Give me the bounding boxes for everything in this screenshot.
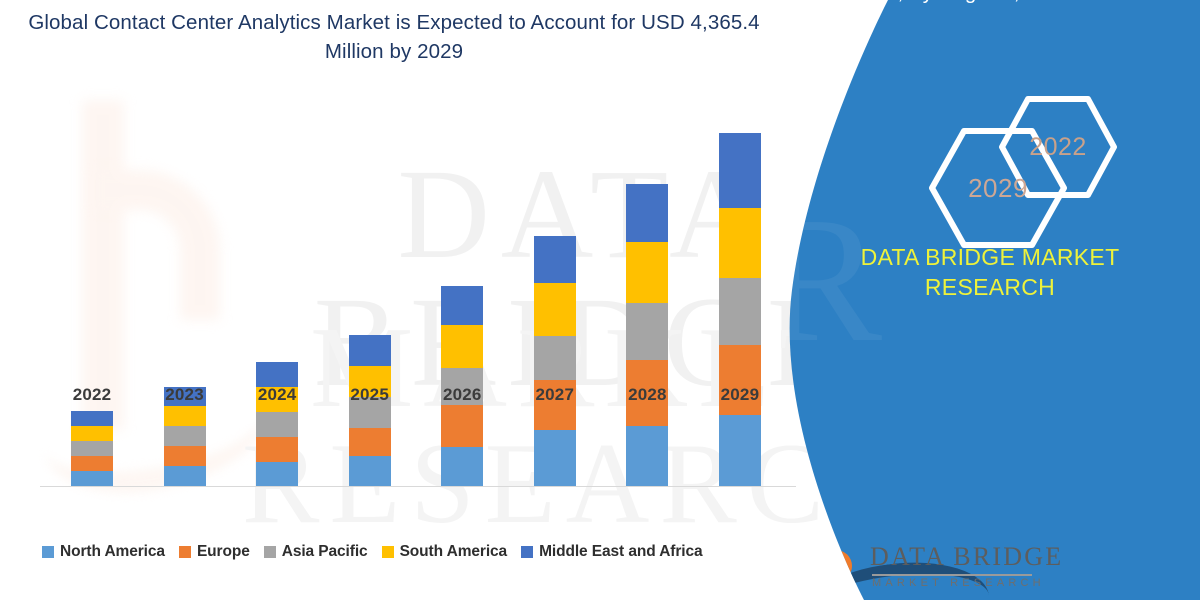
brand-name: DATA BRIDGE MARKET RESEARCH	[780, 243, 1200, 303]
bar-column	[601, 110, 693, 486]
bar-segment	[441, 286, 483, 325]
hexagon-2022-label: 2022	[1029, 133, 1087, 162]
bar-segment	[719, 278, 761, 345]
bar-segment	[71, 411, 113, 426]
bar-segment	[349, 335, 391, 366]
bar-column	[139, 110, 231, 486]
footer-logo-divider	[872, 574, 1032, 576]
bar-segment	[441, 447, 483, 486]
legend-item[interactable]: Asia Pacific	[264, 543, 368, 561]
bar-segment	[256, 412, 298, 437]
bar-segment	[719, 208, 761, 278]
chart-plot-area	[46, 110, 786, 486]
legend-item[interactable]: North America	[42, 543, 165, 561]
bar-segment	[256, 362, 298, 387]
legend-swatch-icon	[179, 546, 191, 558]
bar-segment	[441, 325, 483, 368]
bar-segment	[441, 405, 483, 447]
legend-swatch-icon	[42, 546, 54, 558]
x-axis-line	[40, 486, 796, 487]
bar-segment	[349, 456, 391, 486]
bar-segment	[534, 336, 576, 380]
footer-logo-name: DATA BRIDGE	[870, 542, 1063, 572]
bar-segment	[349, 428, 391, 456]
bar-segment	[164, 426, 206, 446]
bar-column	[324, 110, 416, 486]
legend-swatch-icon	[264, 546, 276, 558]
x-axis-label: 2027	[509, 385, 601, 405]
bar-segment	[719, 415, 761, 486]
x-axis-label: 2029	[694, 385, 786, 405]
bar-segment	[164, 466, 206, 486]
bar-segment	[534, 430, 576, 486]
right-brand-panel: R Market, By Regions, 2022 to 2029 2022 …	[780, 0, 1200, 600]
stacked-bar	[256, 362, 298, 486]
bridge-b-icon	[812, 538, 852, 582]
legend-item[interactable]: Europe	[179, 543, 250, 561]
stacked-bar-chart	[0, 110, 810, 490]
page-title: Global Contact Center Analytics Market i…	[14, 8, 774, 66]
x-axis-labels: 20222023202420252026202720282029	[46, 385, 786, 405]
legend-item[interactable]: South America	[382, 543, 508, 561]
bar-segment	[71, 456, 113, 471]
x-axis-label: 2025	[324, 385, 416, 405]
bar-segment	[164, 406, 206, 426]
footer-logo-subtitle: MARKET RESEARCH	[872, 577, 1045, 589]
legend-label: Asia Pacific	[282, 543, 368, 561]
bar-segment	[256, 437, 298, 462]
x-axis-label: 2023	[139, 385, 231, 405]
bar-segment	[71, 441, 113, 456]
bar-segment	[256, 462, 298, 486]
x-axis-label: 2022	[46, 385, 138, 405]
legend-label: South America	[400, 543, 508, 561]
bar-segment	[719, 133, 761, 208]
legend-swatch-icon	[521, 546, 533, 558]
stacked-bar	[71, 411, 113, 486]
chart-legend: North AmericaEuropeAsia PacificSouth Ame…	[42, 540, 802, 564]
x-axis-label: 2026	[416, 385, 508, 405]
brand-line-2: RESEARCH	[780, 273, 1200, 303]
legend-label: Europe	[197, 543, 250, 561]
bar-segment	[534, 236, 576, 283]
brand-line-1: DATA BRIDGE MARKET	[780, 243, 1200, 273]
bar-segment	[71, 471, 113, 486]
bar-segment	[626, 303, 668, 360]
panel-subtitle: Market, By Regions, 2022 to 2029	[780, 0, 1200, 7]
bar-segment	[626, 426, 668, 486]
bar-segment	[164, 446, 206, 466]
hexagon-2029-label: 2029	[968, 173, 1028, 204]
bar-segment	[534, 283, 576, 336]
legend-item[interactable]: Middle East and Africa	[521, 543, 702, 561]
stacked-bar	[719, 133, 761, 486]
infographic-root: DATA BRIDGE MARKET RESEARCH Global Conta…	[0, 0, 1200, 600]
bar-segment	[71, 426, 113, 441]
x-axis-label: 2028	[601, 385, 693, 405]
bar-column	[509, 110, 601, 486]
hexagon-group: 2022 2029	[780, 95, 1200, 230]
bar-column	[694, 110, 786, 486]
stacked-bar	[626, 184, 668, 486]
bar-column	[46, 110, 138, 486]
x-axis-label: 2024	[231, 385, 323, 405]
legend-swatch-icon	[382, 546, 394, 558]
stacked-bar	[349, 335, 391, 486]
stacked-bar	[534, 236, 576, 486]
bar-column	[231, 110, 323, 486]
legend-label: Middle East and Africa	[539, 543, 702, 561]
bar-column	[416, 110, 508, 486]
footer-logo: DATA BRIDGE MARKET RESEARCH	[798, 530, 1128, 600]
legend-label: North America	[60, 543, 165, 561]
bar-segment	[626, 184, 668, 242]
bar-segment	[626, 242, 668, 303]
